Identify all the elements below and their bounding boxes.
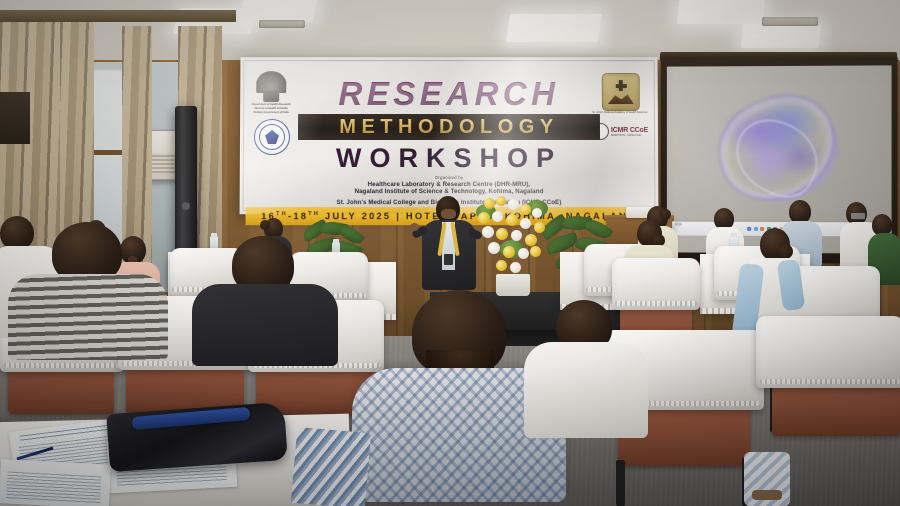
attendee-dark-blazer-front (200, 236, 324, 354)
ceiling-light-2 (238, 0, 317, 22)
attendee-front-right-white (530, 300, 640, 426)
ceiling-vent-2 (762, 17, 818, 26)
wall-fixture-left (0, 92, 30, 144)
curtain-rail (0, 10, 236, 22)
chair-leg-front-4a (616, 460, 625, 506)
banner-org-line-2: Nagaland Institute of Science & Technolo… (240, 188, 659, 195)
bottle-cap-3 (731, 233, 737, 237)
attendee-glasses-icon (850, 212, 866, 220)
banner-org-line-1: Healthcare Laboratory & Research Centre … (240, 181, 659, 188)
banner-title-workshop: WORKSHOP (240, 143, 658, 174)
banner-title-research: RESEARCH (240, 75, 658, 113)
ceiling-light-3 (506, 14, 602, 42)
event-banner: Department of Health Research Ministry o… (240, 57, 659, 214)
banner-title-methodology-band: METHODOLOGY (298, 114, 600, 140)
chair-cover-front-5 (756, 316, 900, 388)
handout-3-lines (6, 472, 102, 503)
bottle-cap-2 (333, 239, 339, 243)
icmr-ccoe-logo: ICMR CCoE BIOETHICS | ICMR-CCoE (592, 123, 648, 140)
handout-3[interactable] (0, 459, 111, 506)
attendee-front-center-closest (368, 290, 548, 506)
attendee-blue-scarf (742, 228, 804, 324)
nist-seal-core (265, 130, 279, 144)
icmr-ccoe-sublabel: BIOETHICS | ICMR-CCoE (611, 134, 648, 137)
ceiling-light-4 (677, 0, 766, 24)
presenter-hand-left (410, 223, 419, 231)
conference-photo-scene: Department of Health Research Ministry o… (0, 0, 900, 506)
floral-arrangement (470, 196, 570, 296)
presenter-face (441, 209, 456, 219)
attendee-striped-shirt (22, 222, 152, 344)
presenter-badge (444, 254, 453, 265)
presenter (412, 196, 484, 296)
icmr-ccoe-label: ICMR CCoE (611, 127, 648, 134)
blue-patterned-cloth (291, 427, 371, 506)
banner-title-methodology: METHODOLOGY (339, 116, 558, 139)
banner-organised-by: Organised by (240, 175, 659, 180)
ceiling-vent-1 (259, 20, 305, 28)
sandal-foot (752, 490, 782, 500)
ceiling-light-5 (741, 24, 821, 48)
